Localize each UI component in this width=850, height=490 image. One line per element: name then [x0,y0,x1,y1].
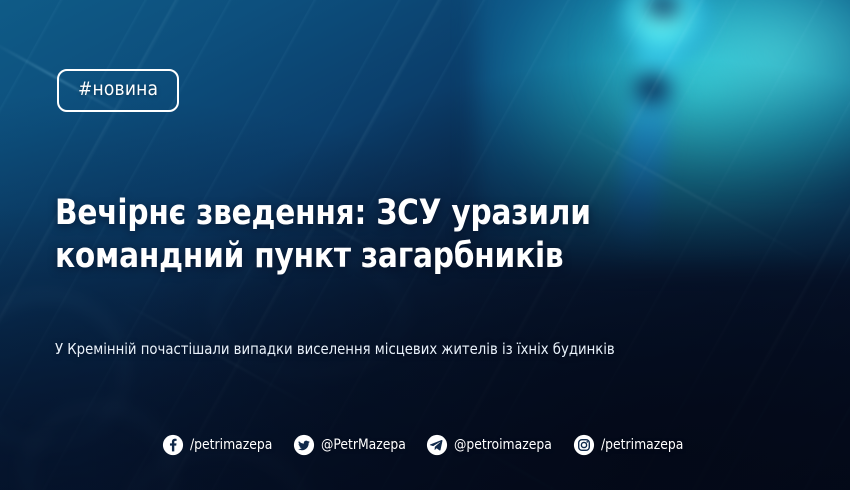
social-handle: @PetrMazepa [321,438,406,453]
page-subtitle: У Кремінній почастішали випадки виселенн… [55,339,758,359]
social-handle: /petrimazepa [190,438,272,453]
social-link-facebook[interactable]: /petrimazepa [162,434,277,456]
facebook-icon [162,434,184,456]
social-handle: @petroimazepa [454,438,552,453]
social-handle: /petrimazepa [601,438,683,453]
social-link-instagram[interactable]: /petrimazepa [573,434,688,456]
page-title: Вечірнє зведення: ЗСУ уразили командний … [55,192,769,279]
social-link-telegram[interactable]: @petroimazepa [426,434,557,456]
instagram-icon [573,434,595,456]
social-links-bar: /petrimazepa @PetrMazepa @petroimazepa [0,434,850,456]
banner-content: #новина Вечірнє зведення: ЗСУ уразили ко… [0,0,850,490]
social-link-twitter[interactable]: @PetrMazepa [293,434,410,456]
category-badge[interactable]: #новина [57,69,179,112]
telegram-icon [426,434,448,456]
twitter-icon [293,434,315,456]
news-banner-card: #новина Вечірнє зведення: ЗСУ уразили ко… [0,0,850,490]
